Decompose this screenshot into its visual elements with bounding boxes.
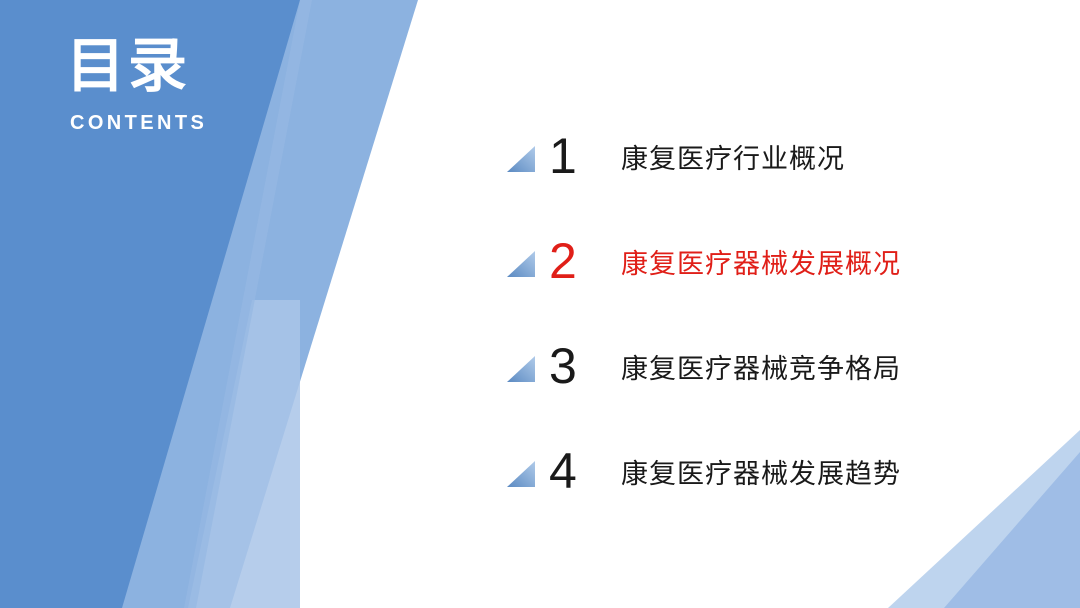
toc-number-2: 2 [549,236,599,286]
toc-item-1[interactable]: 1 康复医疗行业概况 [505,126,901,186]
triangle-marker-icon [505,249,537,279]
page-subtitle: CONTENTS [70,112,207,135]
toc-label-2: 康复医疗器械发展概况 [621,242,901,281]
title-block: 目录 CONTENTS [66,36,207,135]
toc-number-1: 1 [549,131,599,181]
triangle-marker-icon [505,459,537,489]
toc-label-3: 康复医疗器械竞争格局 [621,347,901,386]
slide-root: 目录 CONTENTS 1 康复医疗行业概况 [0,0,1080,608]
contents-list: 1 康复医疗行业概况 2 康复医疗器械发展概况 [505,126,901,501]
toc-item-2[interactable]: 2 康复医疗器械发展概况 [505,231,901,291]
triangle-marker-icon [505,354,537,384]
toc-label-1: 康复医疗行业概况 [621,137,845,176]
toc-item-4[interactable]: 4 康复医疗器械发展趋势 [505,441,901,501]
toc-label-4: 康复医疗器械发展趋势 [621,452,901,491]
toc-number-4: 4 [549,446,599,496]
triangle-marker-icon [505,144,537,174]
page-title: 目录 [66,36,207,98]
toc-item-3[interactable]: 3 康复医疗器械竞争格局 [505,336,901,396]
toc-number-3: 3 [549,341,599,391]
